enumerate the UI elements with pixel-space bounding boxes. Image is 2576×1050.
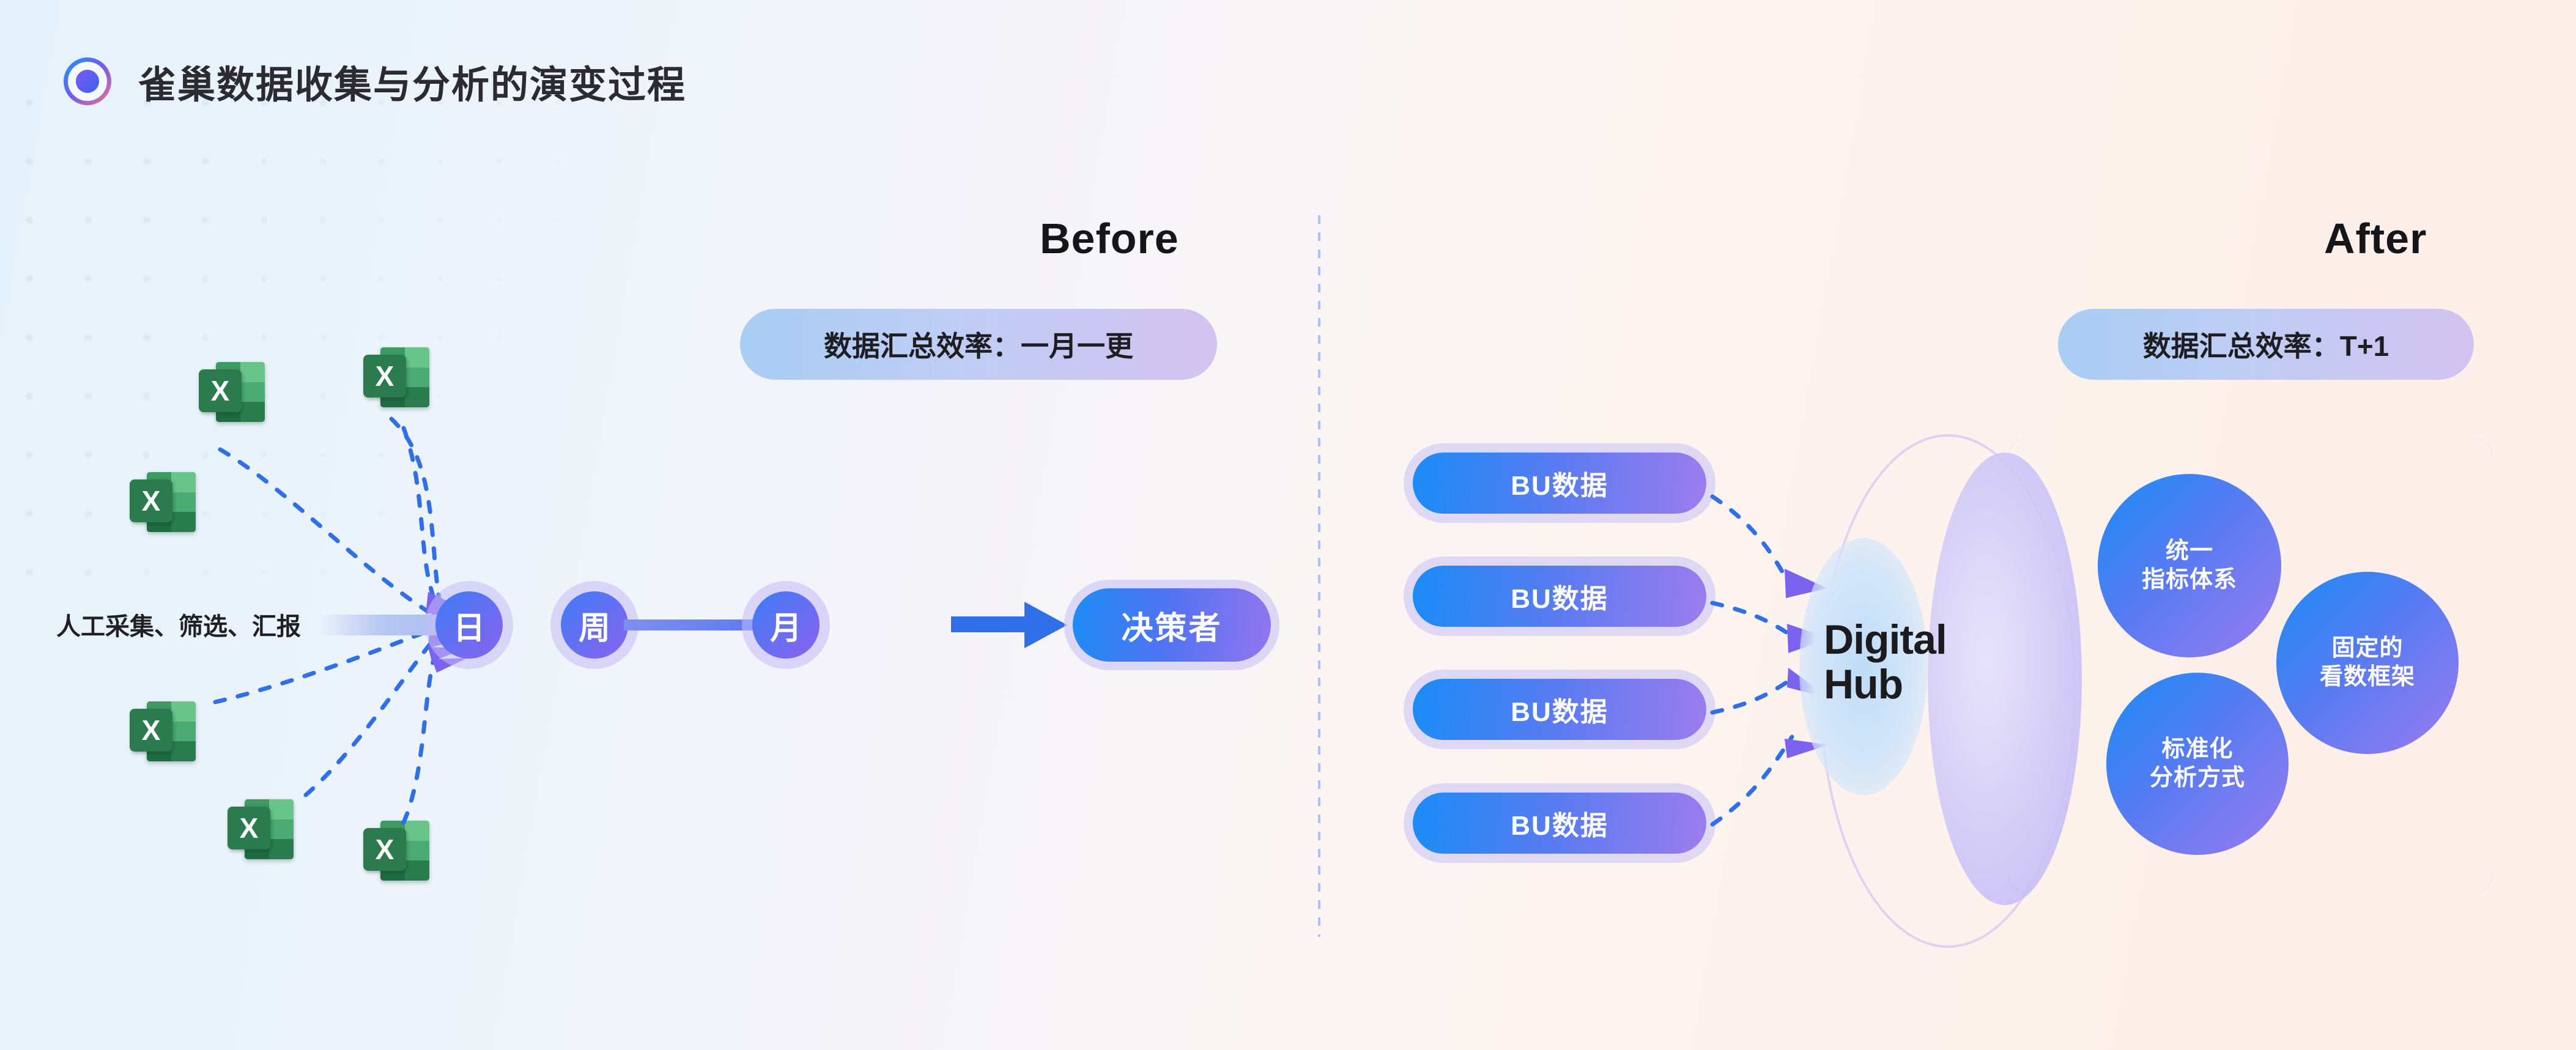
digital-hub-line-2: Hub (1824, 662, 2019, 707)
excel-icon: X (228, 798, 294, 864)
before-heading: Before (1040, 214, 1179, 263)
excel-x-letter: X (130, 479, 172, 522)
outcome-line-2: 看数框架 (2320, 663, 2415, 692)
outcome-line-1: 统一 (2166, 537, 2213, 566)
outcome-line-2: 分析方式 (2150, 764, 2245, 793)
outcome-circle-standard-analysis: 标准化 分析方式 (2106, 673, 2289, 855)
manual-process-label: 人工采集、筛选、汇报 (56, 607, 301, 642)
flow-node-month: 月 (752, 591, 820, 659)
bu-data-pill: BU数据 (1413, 679, 1706, 740)
excel-icon: X (130, 700, 196, 766)
flow-node-week: 周 (561, 591, 628, 659)
page-title: 雀巢数据收集与分析的演变过程 (138, 54, 686, 109)
decider-arrow-icon (951, 599, 1067, 651)
gradient-ring-dot-icon (64, 57, 111, 105)
after-heading: After (2324, 214, 2427, 263)
outcome-line-2: 指标体系 (2142, 566, 2237, 594)
digital-hub-label: Digital Hub (1824, 618, 2019, 708)
bu-data-pill: BU数据 (1413, 566, 1706, 627)
excel-icon: X (199, 361, 265, 427)
excel-icon: X (363, 819, 429, 885)
bu-data-pill: BU数据 (1413, 793, 1706, 854)
section-divider (1318, 215, 1320, 937)
bu-data-pill: BU数据 (1413, 453, 1706, 514)
excel-x-letter: X (199, 369, 242, 412)
flow-node-day: 日 (435, 591, 503, 659)
outcome-line-1: 固定的 (2331, 634, 2403, 663)
excel-icon: X (130, 471, 196, 537)
outcome-line-1: 标准化 (2161, 735, 2233, 764)
outcome-circle-fixed-framework: 固定的 看数框架 (2276, 572, 2459, 754)
after-efficiency-badge: 数据汇总效率：T+1 (2058, 309, 2474, 380)
excel-icon: X (363, 346, 429, 412)
page-header: 雀巢数据收集与分析的演变过程 (64, 54, 686, 109)
excel-x-letter: X (363, 828, 406, 871)
digital-hub-line-1: Digital (1824, 618, 2019, 662)
decider-pill: 决策者 (1073, 588, 1271, 662)
excel-x-letter: X (228, 807, 270, 849)
excel-x-letter: X (130, 709, 172, 752)
icon-inner-white-ring (68, 62, 107, 101)
before-efficiency-badge: 数据汇总效率：一月一更 (740, 309, 1217, 380)
outcome-circle-unified-metrics: 统一 指标体系 (2098, 474, 2281, 657)
flow-link-week-month (624, 619, 755, 630)
excel-x-letter: X (363, 355, 406, 397)
icon-inner-dot (76, 70, 99, 93)
